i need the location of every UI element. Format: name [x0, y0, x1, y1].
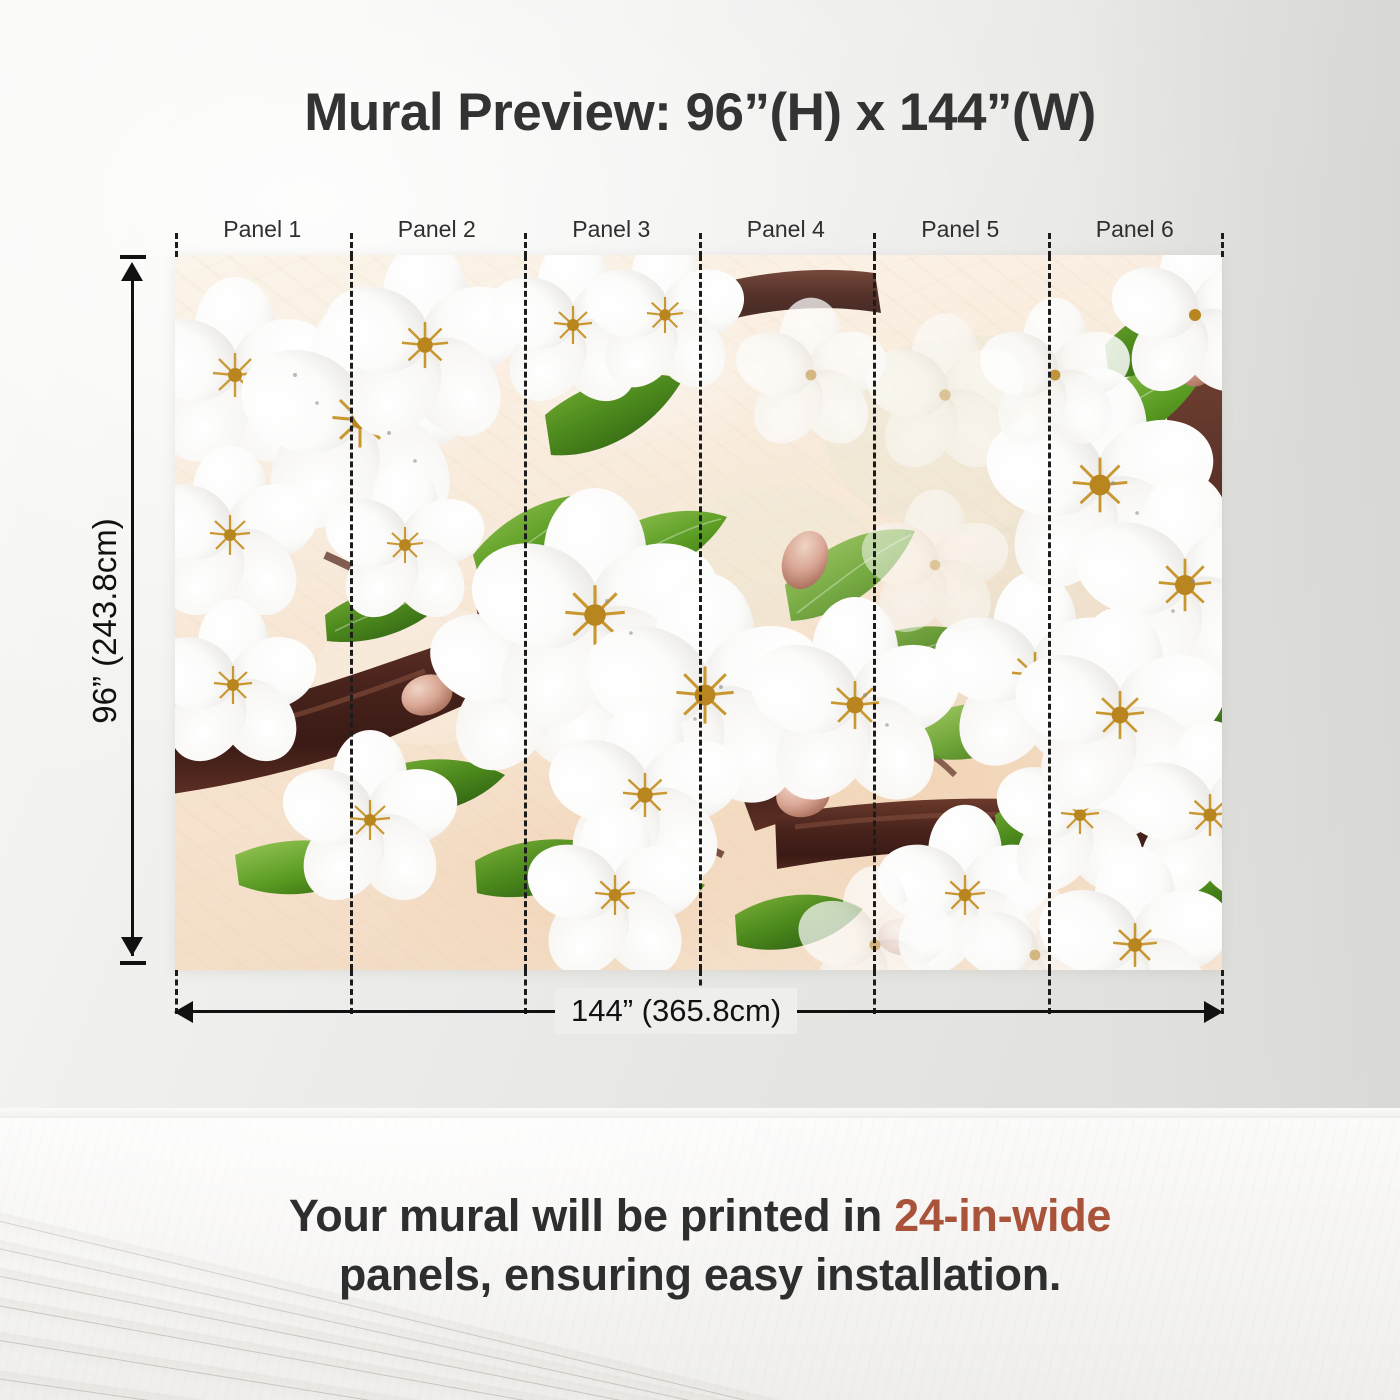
panel-label-5: Panel 5	[873, 212, 1048, 246]
mural-preview-scene: Mural Preview: 96”(H) x 144”(W) Panel 1 …	[0, 0, 1400, 1400]
panel-divider-1-top	[350, 233, 353, 257]
width-arrow-head-right	[1204, 1001, 1223, 1023]
panel-label-3: Panel 3	[524, 212, 699, 246]
panel-divider-3	[699, 255, 702, 970]
panel-divider-3-top	[699, 233, 702, 257]
panel-divider-5-bottom	[1048, 970, 1051, 1014]
height-dimension-label: 96” (243.8cm)	[86, 341, 124, 901]
caption-line-1: Your mural will be printed in 24-in-wide	[0, 1186, 1400, 1245]
panel-divider-1-bottom	[350, 970, 353, 1014]
height-arrow-head-down	[121, 937, 143, 956]
panel-divider-5-top	[1048, 233, 1051, 257]
height-tick-bottom	[120, 961, 146, 965]
caption-line-1-text: Your mural will be printed in	[289, 1190, 894, 1241]
panel-divider-2-bottom	[524, 970, 527, 1014]
panel-divider-edge-right-top	[1221, 233, 1224, 257]
panel-label-1: Panel 1	[175, 212, 350, 246]
panel-divider-5	[1048, 255, 1051, 970]
caption-accent-panel-width: 24-in-wide	[894, 1190, 1111, 1241]
panel-label-2: Panel 2	[350, 212, 525, 246]
panel-divider-2	[524, 255, 527, 970]
width-dimension-label: 144” (365.8cm)	[555, 988, 797, 1034]
page-title: Mural Preview: 96”(H) x 144”(W)	[0, 82, 1400, 143]
panel-divider-4-top	[873, 233, 876, 257]
panel-divider-1	[350, 255, 353, 970]
height-arrow-line	[131, 272, 134, 956]
panel-divider-4-bottom	[873, 970, 876, 1014]
mural-artwork	[175, 255, 1222, 970]
panel-label-6: Panel 6	[1048, 212, 1223, 246]
panel-divider-edge-left-top	[175, 233, 178, 257]
caption-line-2: panels, ensuring easy installation.	[0, 1245, 1400, 1304]
footer-caption: Your mural will be printed in 24-in-wide…	[0, 1186, 1400, 1304]
panel-divider-2-top	[524, 233, 527, 257]
panel-divider-4	[873, 255, 876, 970]
panel-label-4: Panel 4	[699, 212, 874, 246]
height-tick-top	[120, 255, 146, 259]
